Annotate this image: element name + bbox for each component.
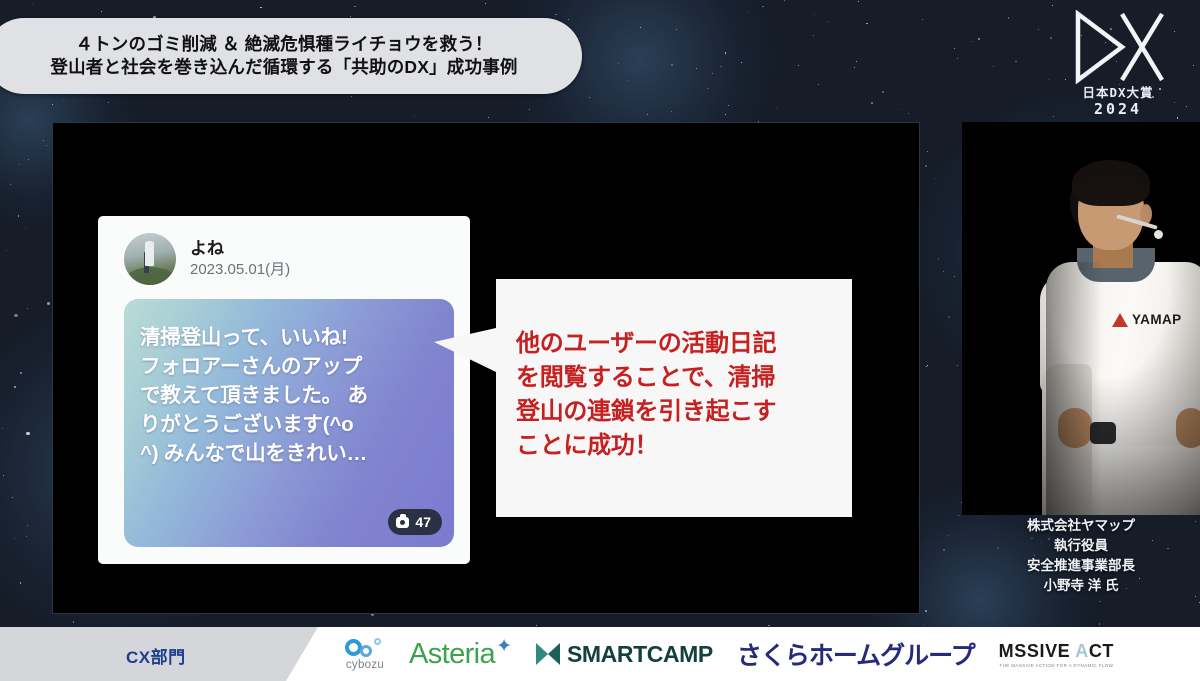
asteria-wordmark: Asteria [409, 640, 495, 669]
photo-count-badge: 47 [388, 509, 442, 535]
post-message-text: 清掃登山って、いいね! フォロアーさんのアップ で教えて頂きました。 あ りがと… [140, 323, 440, 469]
speaker-company: 株式会社ヤマップ [1027, 518, 1135, 535]
activity-post-card: よね 2023.05.01(月) 清掃登山って、いいね! フォロアーさんのアップ… [98, 216, 470, 564]
asteria-star-icon: ✦ [496, 637, 512, 656]
title-line-2: 登山者と社会を巻き込んだ循環する「共助のDX」成功事例 [50, 59, 517, 77]
title-line-1: ４トンのゴミ削減 ＆ 絶滅危惧種ライチョウを救う！ [75, 36, 492, 54]
speaker-role: 執行役員 [1054, 538, 1108, 555]
sponsor-logo-cybozu: cybozu [345, 638, 385, 671]
speaker-caption: 株式会社ヤマップ 執行役員 安全推進事業部長 小野寺 洋 氏 [962, 518, 1200, 595]
callout-tail [434, 328, 496, 372]
massive-act-wordmark: MSSIVE ACT [999, 641, 1114, 662]
video-vignette [962, 122, 1200, 515]
sponsor-logo-sakura-home-group: さくらホームグループ [737, 636, 975, 672]
post-header: よね 2023.05.01(月) [98, 216, 470, 285]
speaker-video-panel: YAMAP [962, 122, 1200, 515]
post-meta: よね 2023.05.01(月) [190, 240, 290, 278]
speaker-department: 安全推進事業部長 [1027, 558, 1135, 575]
callout-bubble: 他のユーザーの活動日記 を閲覧することで、清掃 登山の連鎖を引き起こす ことに成… [496, 279, 852, 517]
avatar [124, 233, 176, 285]
dx-award-logo: 日本DX大賞 2024 [1058, 6, 1178, 124]
presentation-stage: ４トンのゴミ削減 ＆ 絶滅危惧種ライチョウを救う！ 登山者と社会を巻き込んだ循環… [0, 0, 1200, 681]
sponsor-logo-massive-act: MSSIVE ACT THE MASSIVE ACTION FOR A DYNA… [999, 641, 1114, 668]
sakura-wordmark: さくらホームグループ [737, 642, 975, 670]
photo-count-value: 47 [415, 515, 431, 529]
session-title-banner: ４トンのゴミ削減 ＆ 絶滅危惧種ライチョウを救う！ 登山者と社会を巻き込んだ循環… [0, 18, 582, 94]
post-username: よね [190, 240, 290, 259]
category-label: CX部門 [126, 643, 186, 668]
post-message-bubble: 清掃登山って、いいね! フォロアーさんのアップ で教えて頂きました。 あ りがと… [124, 299, 454, 547]
callout-text: 他のユーザーの活動日記 を閲覧することで、清掃 登山の連鎖を引き起こす ことに成… [516, 327, 838, 463]
massive-act-tagline: THE MASSIVE ACTION FOR A DYNAMIC FLOW [999, 663, 1113, 668]
cybozu-circles-icon [345, 638, 385, 658]
dx-monogram-icon [1070, 10, 1166, 84]
smartcamp-diamond-icon [536, 643, 560, 665]
post-date: 2023.05.01(月) [190, 262, 290, 279]
sponsor-bar: CX部門 cybozu Asteria ✦ SMARTCAMP さくらホームグル… [0, 627, 1200, 681]
sponsor-logo-smartcamp: SMARTCAMP [536, 641, 713, 668]
cybozu-wordmark: cybozu [346, 659, 384, 671]
award-year-label: 2024 [1058, 100, 1178, 118]
sponsor-logo-row: cybozu Asteria ✦ SMARTCAMP さくらホームグループ MS… [345, 627, 1192, 681]
sponsor-logo-asteria: Asteria ✦ [409, 640, 512, 669]
speaker-name: 小野寺 洋 氏 [1043, 578, 1118, 595]
camera-icon [396, 517, 409, 528]
award-name-label: 日本DX大賞 [1058, 82, 1178, 101]
slide-canvas: よね 2023.05.01(月) 清掃登山って、いいね! フォロアーさんのアップ… [52, 122, 920, 614]
smartcamp-wordmark: SMARTCAMP [567, 641, 713, 668]
